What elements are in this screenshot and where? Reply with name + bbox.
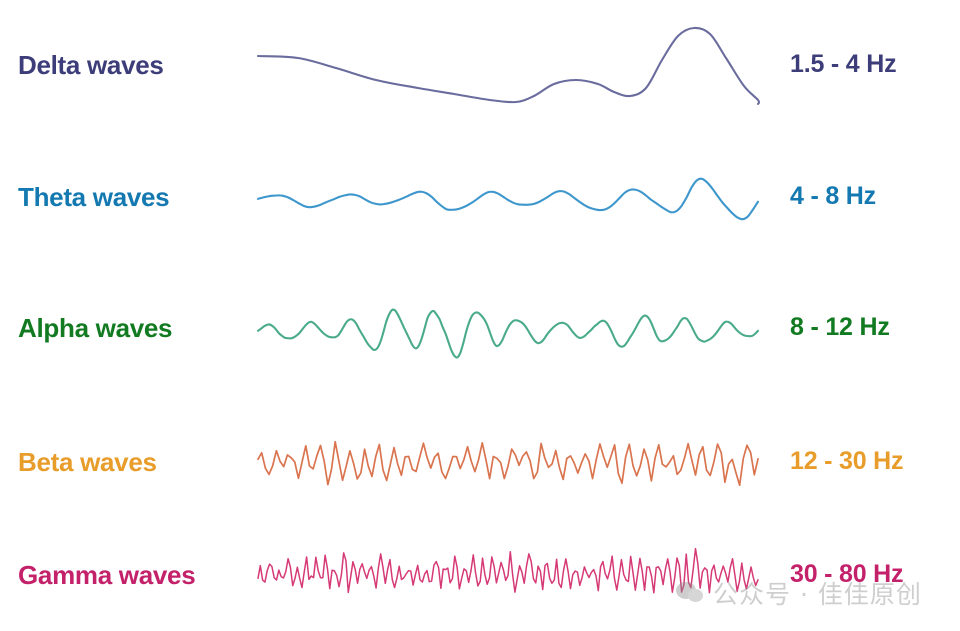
frequency-label-theta: 4 - 8 Hz	[790, 182, 876, 211]
band-label-beta: Beta waves	[18, 447, 157, 478]
waveform-trace-delta	[258, 14, 758, 124]
frequency-label-alpha: 8 - 12 Hz	[790, 313, 890, 342]
frequency-label-beta: 12 - 30 Hz	[790, 447, 903, 476]
waveform-trace-theta	[258, 140, 758, 260]
waveform-path-beta	[258, 442, 758, 486]
frequency-label-delta: 1.5 - 4 Hz	[790, 50, 896, 79]
frequency-label-gamma: 30 - 80 Hz	[790, 560, 903, 589]
waveform-path-theta	[258, 179, 758, 219]
waveform-trace-alpha	[258, 276, 758, 386]
waveform-path-delta	[258, 28, 759, 104]
waveform-path-gamma	[258, 549, 758, 593]
waveform-trace-beta	[258, 424, 758, 502]
brainwave-chart: Delta waves1.5 - 4 HzTheta waves4 - 8 Hz…	[0, 0, 960, 631]
band-label-theta: Theta waves	[18, 182, 169, 213]
waveform-trace-gamma	[258, 534, 758, 614]
band-label-gamma: Gamma waves	[18, 560, 195, 591]
waveform-path-alpha	[258, 310, 758, 358]
band-label-delta: Delta waves	[18, 50, 164, 81]
band-label-alpha: Alpha waves	[18, 313, 172, 344]
